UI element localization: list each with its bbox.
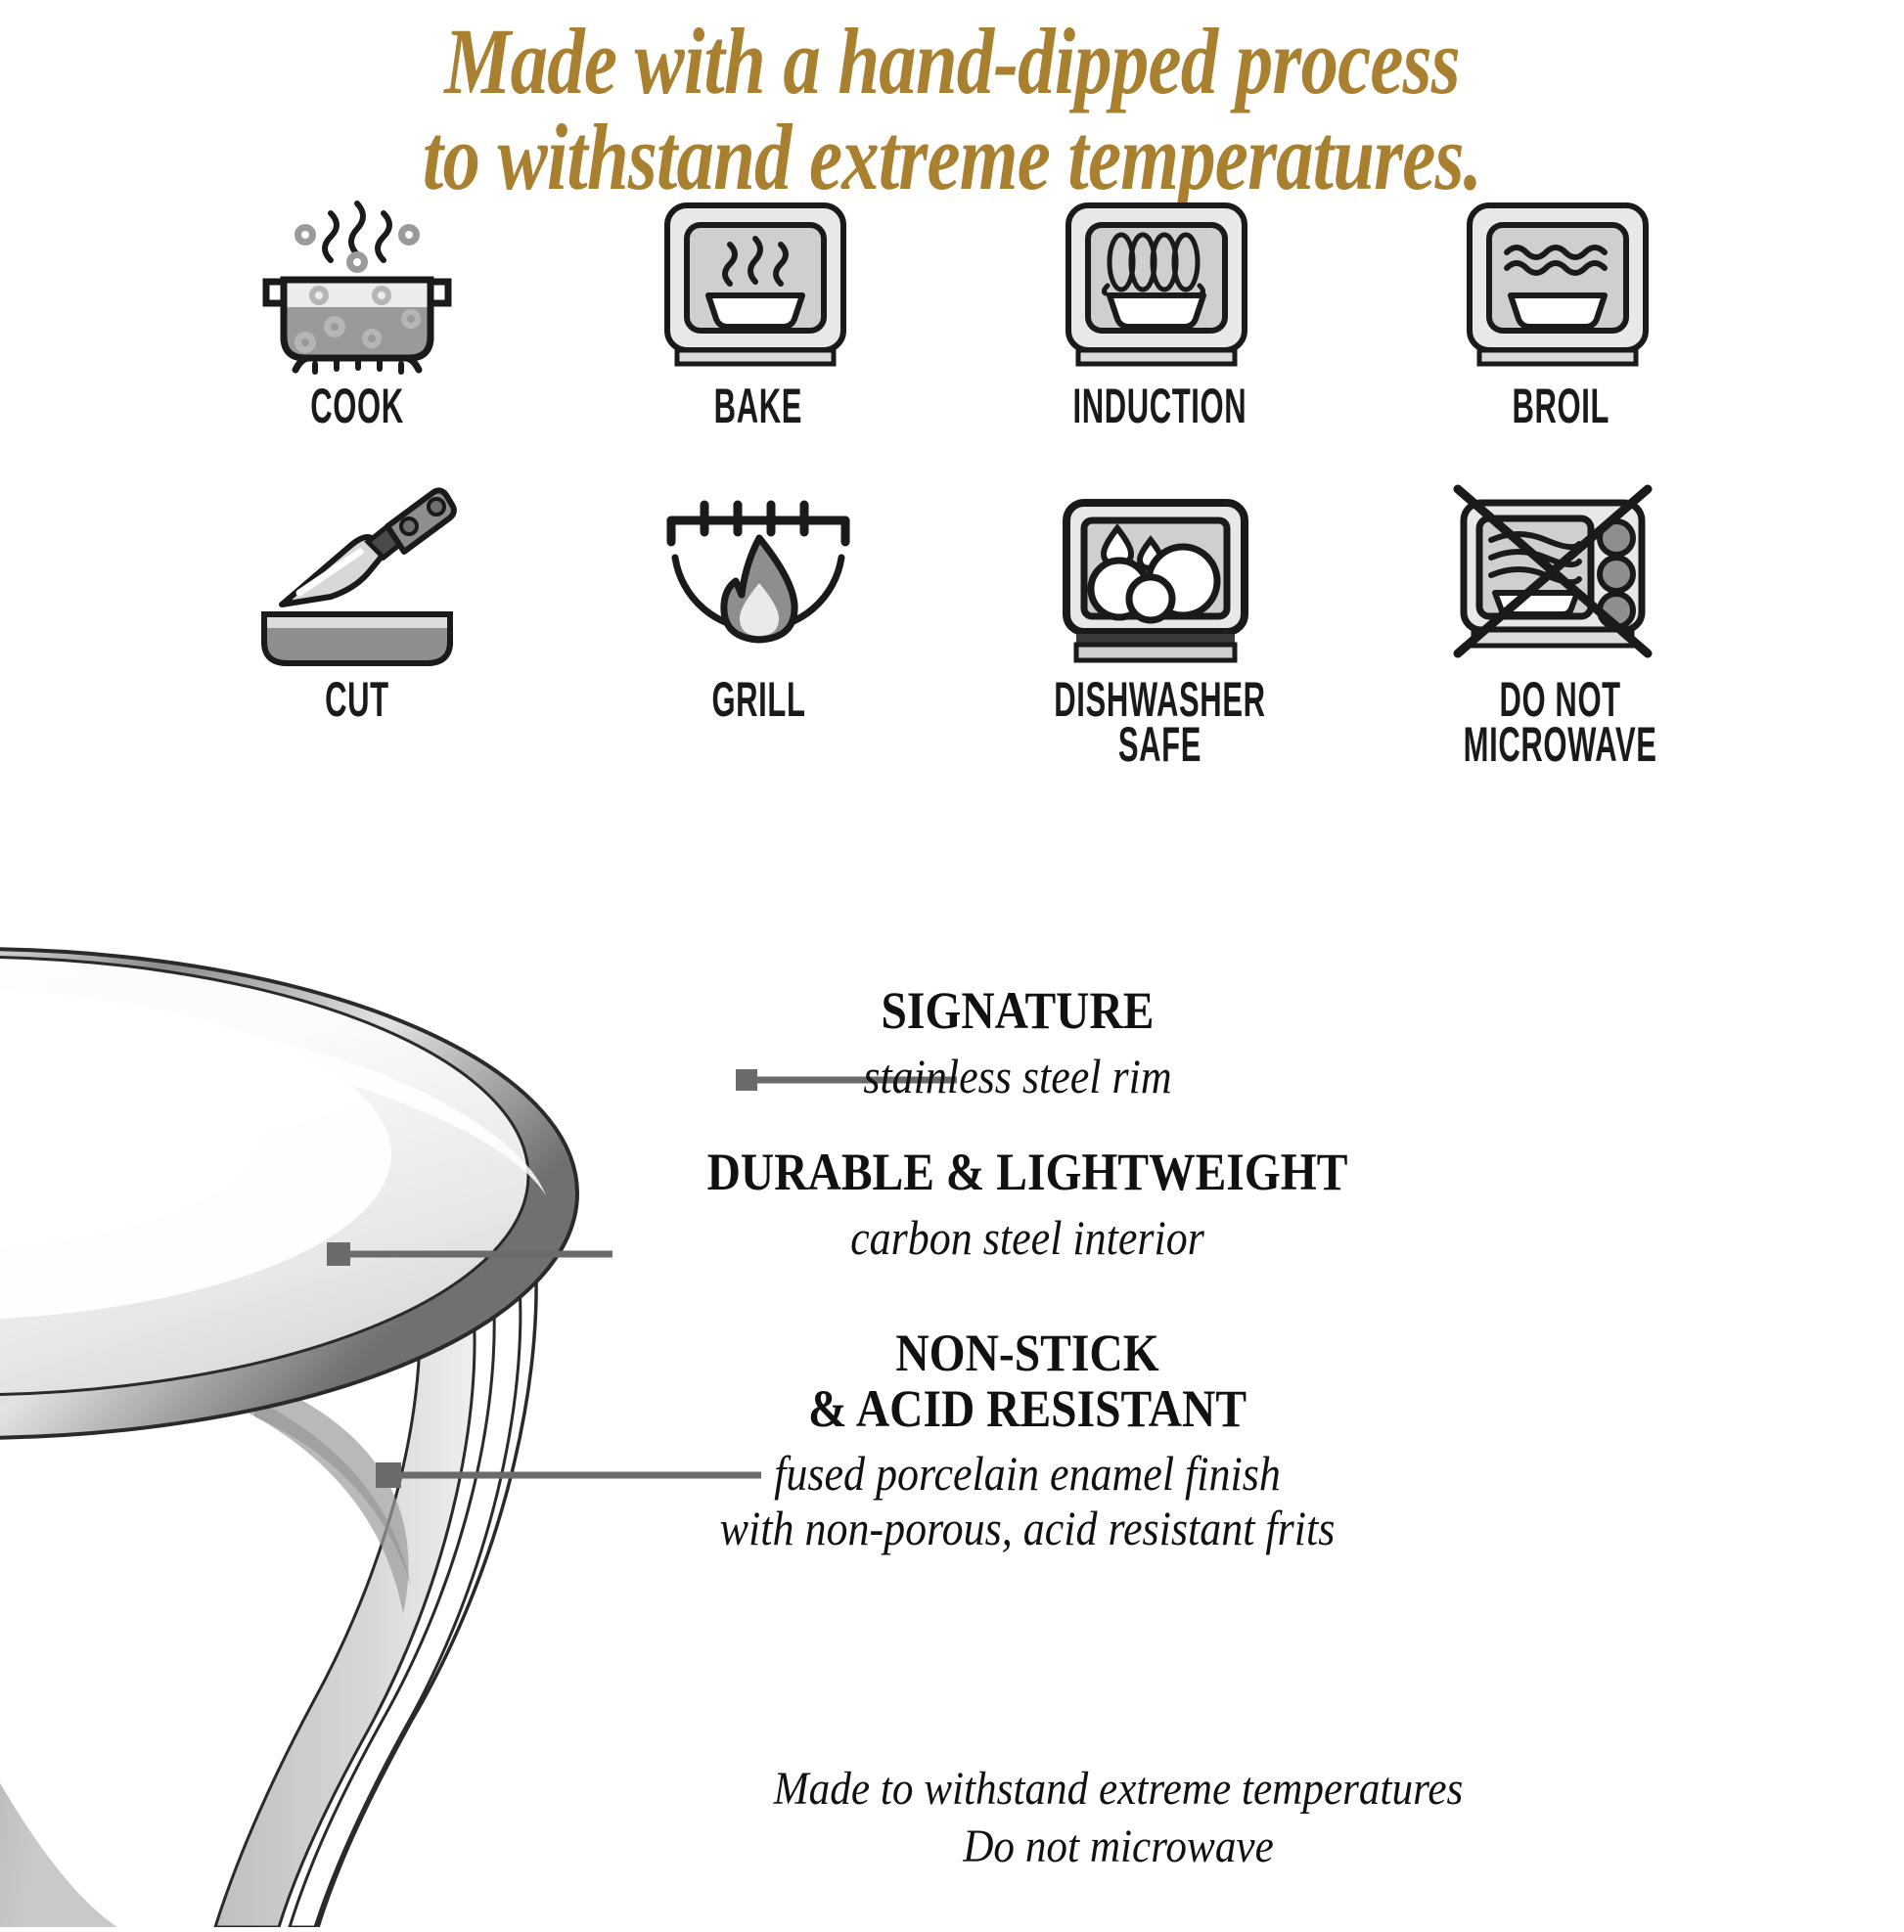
leader-line-signature xyxy=(736,1069,957,1091)
leader-lines xyxy=(0,0,1904,1904)
infographic-root: Made with a hand-dipped process to withs… xyxy=(0,0,1904,1904)
footer-line-2: Do not microwave xyxy=(464,1819,1772,1876)
footer-note: Made to withstand extreme temperatures D… xyxy=(464,1761,1772,1875)
leader-line-nonstick xyxy=(376,1462,761,1488)
leader-line-durable xyxy=(327,1242,612,1266)
footer-line-1: Made to withstand extreme temperatures xyxy=(774,1763,1464,1815)
